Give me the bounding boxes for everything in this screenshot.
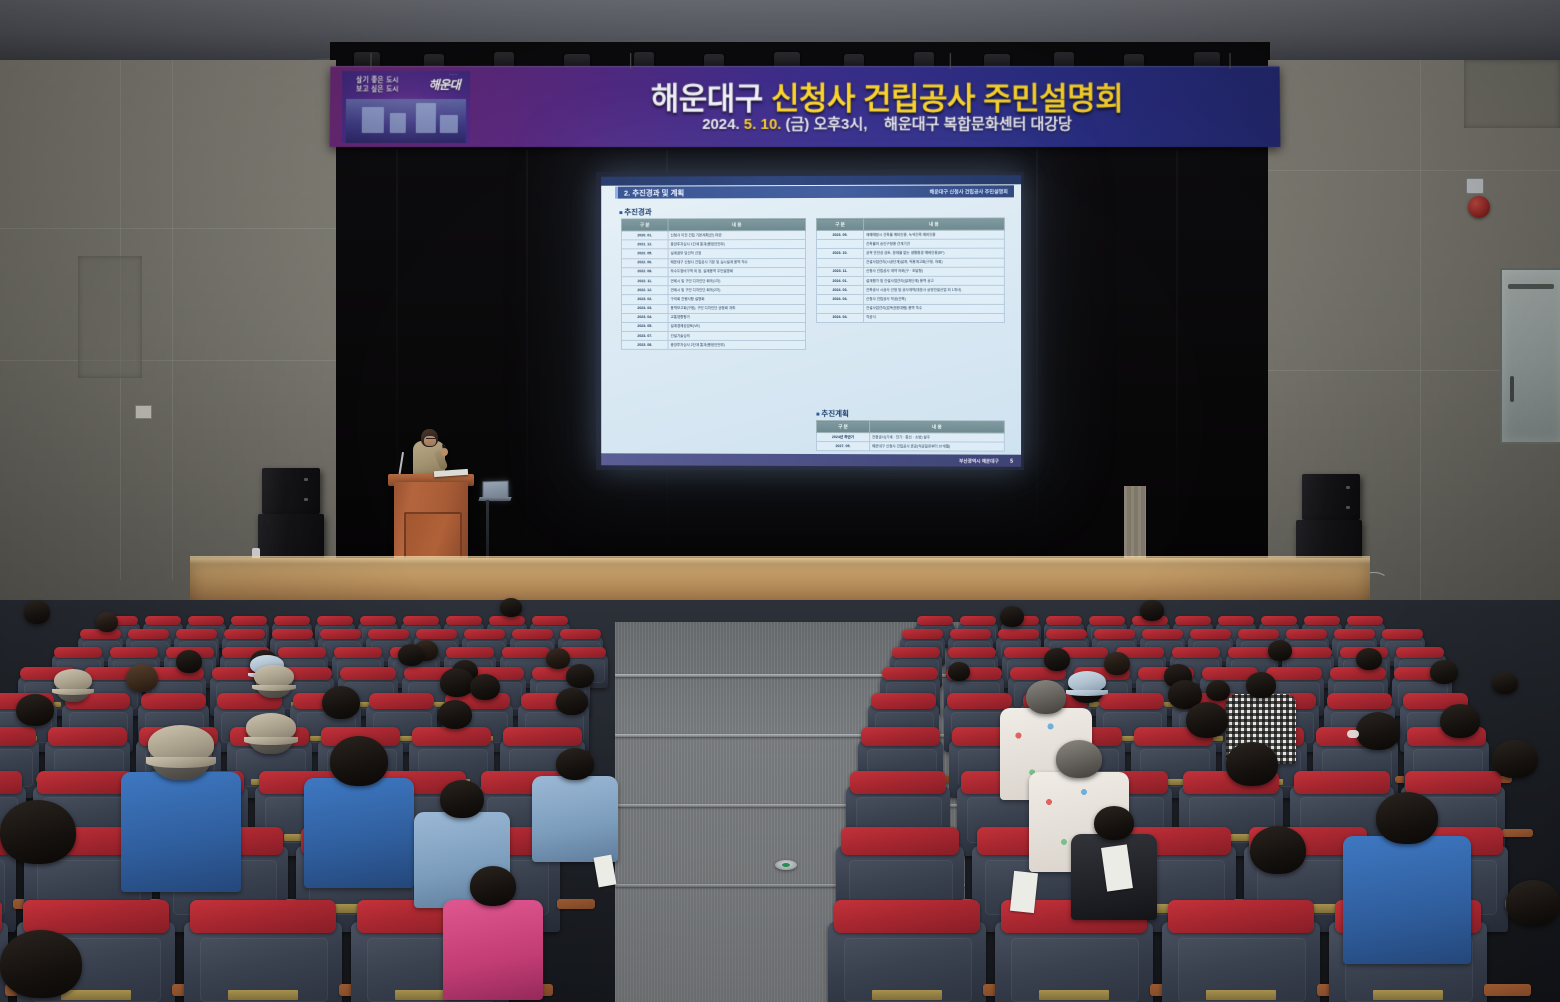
cell-period: 2022. 05. [621,249,668,258]
table-row: 2024. 04.착공식 [816,313,1004,322]
fire-alarm-bell-icon [1468,196,1490,218]
table-row: 2024. 04.신청사 건립공사 착공(건축) [816,295,1004,304]
slide-footer-text: 부산광역시 해운대구 [959,459,999,465]
seat-cushion [368,629,409,639]
cell-period: 2024. 03. [816,286,863,295]
seat-cushion [23,900,168,933]
seat-cushion [960,616,997,625]
seat-cushion [464,629,505,639]
audience-torso [304,778,414,888]
presentation-slide: 2. 추진경과 및 계획 해운대구 신청사 건립공사 주민설명회 추진경과 구 … [601,175,1021,467]
seat-cushion [360,616,397,625]
slide-header-right: 해운대구 신청사 건립공사 주민설명회 [930,188,1008,195]
seat-cushion [489,616,526,625]
seat-cushion [502,647,550,658]
seat-cushion [48,727,126,746]
cell-content: 재해예방시 건축물 예비인증, 녹색건축 예비인증 [864,230,1005,240]
audience-head [176,650,202,673]
audience-head [1356,712,1400,750]
table-header-row: 구 분내 용 [816,421,1004,434]
cell-period: 2024. 01. [816,276,863,285]
seat-cushion [892,647,940,658]
cell-content: 설계평가 및 건설사업관리(설계단계) 용역 공고 [864,276,1005,285]
seat-number-plate [1373,990,1443,1000]
table-header-gubun: 구 분 [816,218,863,230]
seat-cushion [917,616,954,625]
auditorium-seat[interactable] [995,922,1153,1002]
auditorium-seat[interactable] [184,922,342,1002]
cell-content: 해운대구 신청사 건립공사 준공(착공일로부터 37개월) [870,442,1005,452]
seat-cushion [0,900,2,933]
audience-head [470,674,500,700]
seat-armrest [1502,829,1533,837]
audience-head [1492,740,1538,778]
audience-head [1246,672,1276,698]
table-row: 2023. 02.구의회 진행사항 설명회 [621,295,805,304]
audience-head [556,748,594,780]
audience-head [500,598,522,617]
logo-brandmark: 해운대 [428,76,460,93]
table-row: 2022. 11.연제시 및 구민 디자인단 회의(1차) [621,276,805,285]
audience-torso [1343,836,1471,964]
seat-cushion [412,727,490,746]
slide-top-bar [601,175,1021,185]
seat-cushion [1094,629,1135,639]
seat-cushion [110,647,158,658]
laptop-base [478,497,511,501]
cap-brim [146,757,216,767]
cell-period: 2022. 11. [621,277,668,286]
seat-cushion [1190,629,1231,639]
seat-cushion [37,771,133,794]
audience-head [1506,880,1560,926]
acoustic-panel-left [78,256,142,378]
cell-content: 건설사업관리(감독권한대행) 용역 착수 [864,304,1005,313]
cell-content: 중앙투자심사 2단계 통과(행정안전부) [668,341,805,350]
audience-head [1376,792,1438,844]
cell-content: 전충공사(기계 · 전기 · 통신 · 소방) 발주 [870,433,1005,443]
cell-content: 교통영향평가 [668,313,805,322]
table-row: 건설사업관리(감독권한대행) 용역 착수 [816,304,1004,313]
acoustic-panel-right [1464,60,1560,128]
audience-head [322,686,360,719]
seat-armrest [557,899,595,909]
cell-content: 건설기술심의 [668,332,805,341]
audience-head [330,736,388,786]
banner-title-gold: 신청사 건립공사 주민설명회 [771,81,1124,116]
audience-head [470,866,516,906]
table-header-naeyong: 내 용 [864,218,1005,230]
cap-brim [1066,690,1108,696]
cell-period: 2024년 하반기 [816,433,869,442]
seat-cushion [1046,629,1087,639]
seat-cushion [871,693,936,709]
audience-head [24,600,50,624]
cell-content: 설계공모 당선작 선정 [668,249,805,258]
seat-cushion [369,693,434,709]
cap-brim [252,685,296,691]
table-row: 2022. 12.연제시 및 구민 디자인단 회의(2차) [621,286,805,295]
slide-table-progress-cont: 구 분내 용2023. 09.재해예방시 건축물 예비인증, 녹색건축 예비인증… [816,217,1005,322]
cell-period: 2023. 03. [621,304,668,313]
speaker-stack-right-top [1302,474,1360,520]
slide-page-number: 5 [1010,459,1013,465]
logo-slogan-line2: 보고 싶은 도시 [356,86,399,94]
table-row: 2020. 01.신청사 이전 건립 기본계획(안) 마련 [621,231,805,241]
auditorium-seat[interactable] [828,922,986,1002]
audience-head [1356,648,1382,670]
table-row: 건축물의 승인구청용 관계기관 [816,239,1004,249]
cap-brim [52,689,94,695]
seat-cushion [841,827,959,855]
banner-place: 해운대구 복합문화센터 대강당 [884,116,1072,133]
cell-content: 설계경제성검토(VE) [668,322,805,331]
slide-bottom-bar [601,453,1021,466]
seat-cushion [278,647,326,658]
audience-head [1268,640,1292,661]
auditorium-seat[interactable] [1162,922,1320,1002]
side-exit-door[interactable] [1500,268,1560,444]
wall-sign-left [135,405,152,419]
seat-cushion [1330,667,1385,680]
seat-cushion [1304,616,1341,625]
cell-content: 건축공사 시공사 선정 및 공사계약(대표사 삼양건설산업 외 1개사) [864,285,1005,294]
audience-head [546,648,570,669]
seat-number-plate [61,990,131,1000]
table-row: 건설사업관리(시공단계)설계, 적용계고회(구정, 의회) [816,258,1004,267]
seat-cushion [503,727,581,746]
audience-head [1104,652,1130,675]
audience-head [16,694,54,726]
seat-number-plate [228,990,298,1000]
seat-cushion [320,629,361,639]
seat-cushion [560,629,601,639]
table-row: 2023. 09.재해예방시 건축물 예비인증, 녹색건축 예비인증 [816,230,1004,240]
fire-alarm-call-point[interactable] [1466,178,1484,194]
seat-cushion [1046,616,1083,625]
table-header-gubun: 구 분 [816,421,869,433]
seat-cushion [948,647,996,658]
face-mask [1347,730,1359,738]
auditorium-scene: 살기 좋은 도시 보고 싶은 도시 ··· 해운대 해운대구 신청사 건립공사 … [0,0,1560,1002]
cell-content: 연제시 및 구민 디자인단 회의(2차) [668,286,805,295]
seat-cushion [1327,693,1392,709]
audience-head [556,688,588,715]
cell-period [816,258,863,267]
table-header-row: 구 분내 용 [816,218,1004,230]
table-row: 2023. 04.교통영향평가 [621,313,805,322]
cell-content: 공적 안전성 검토, 장애물 없는 생활환경 예비인증(BF) [864,249,1005,258]
cell-period: 2022. 08. [621,267,668,276]
city-photo [346,99,466,143]
table-row: 2023. 07.건설기술심의 [621,332,805,341]
cell-period [816,304,863,313]
audience-head [1094,806,1134,840]
table-row: 2024. 01.설계평가 및 건설사업관리(설계단계) 용역 공고 [816,276,1004,285]
slide-section-1: 추진경과 [619,206,652,217]
seat-cushion [1382,629,1423,639]
seat-cushion [1142,629,1183,639]
seat-cushion [1168,900,1313,933]
audience-head [1430,660,1458,684]
seat-cushion [145,616,182,625]
presenter-glasses [426,438,436,442]
cell-period: 2022. 12. [621,286,668,295]
seat-cushion [1238,629,1279,639]
audience-head [126,664,158,692]
audience-head [1440,704,1480,738]
cell-period [816,240,863,249]
seat-cushion [1334,629,1375,639]
event-banner: 살기 좋은 도시 보고 싶은 도시 ··· 해운대 해운대구 신청사 건립공사 … [330,66,1281,147]
table-header-row: 구 분내 용 [621,219,805,231]
seat-cushion [0,727,36,746]
seat-cushion [834,900,979,933]
seat-cushion [950,629,991,639]
audience-head [948,662,970,681]
seat-cushion [446,647,494,658]
seat-cushion [416,629,457,639]
audience-head [1026,680,1066,714]
seat-cushion [334,647,382,658]
seat-cushion [446,616,483,625]
audience-cap [254,665,294,687]
seat-cushion [1347,616,1384,625]
table-row: 2022. 05.설계공모 당선작 선정 [621,249,805,258]
table-row: 2027. 05.해운대구 신청사 건립공사 준공(착공일로부터 37개월) [816,442,1004,452]
audience-head [0,800,76,864]
audience-head [1140,600,1164,621]
table-header-naeyong: 내 용 [870,421,1005,433]
audience-head [1056,740,1102,778]
cell-content: 구의회 진행사항 설명회 [668,295,805,304]
seat-cushion [998,629,1039,639]
audience-torso [121,772,241,892]
table-row: 2023. 03.용역보고회(구청), 구민 디자인단 공청회 개최 [621,304,805,313]
cell-content: 착공식 [864,313,1005,322]
seat-number-plate [872,990,942,1000]
audience-cap [1068,671,1106,692]
cell-content: 용역보고회(구청), 구민 디자인단 공청회 개최 [668,304,805,313]
table-row: 2023. 10.공적 안전성 검토, 장애물 없는 생활환경 예비인증(BF) [816,249,1004,259]
cell-period: 2023. 11. [816,267,863,276]
cap-brim [244,737,298,745]
cell-period: 2023. 05. [621,322,668,331]
slide-title: 2. 추진경과 및 계획 [624,187,684,198]
seat-cushion [340,667,395,680]
audience-cap [54,669,92,691]
slide-table-plan: 구 분내 용2024년 하반기전충공사(기계 · 전기 · 통신 · 소방) 발… [816,420,1005,452]
banner-title-white: 해운대구 [651,81,763,116]
audience-head [1044,648,1070,671]
slide-table-progress: 구 분내 용2020. 01.신청사 이전 건립 기본계획(안) 마련2021.… [621,218,806,350]
cell-period: 2022. 06. [621,258,668,267]
banner-date-rest: (금) 오후3시, [786,116,868,133]
seat-cushion [1218,616,1255,625]
audience-torso [532,776,618,862]
seat-cushion [190,900,335,933]
presenter-hand [441,448,448,456]
table-row: 2023. 05.설계경제성검토(VE) [621,322,805,331]
audience-head [1186,702,1228,738]
cell-period: 2023. 07. [621,332,668,341]
logo-slogan: 살기 좋은 도시 보고 싶은 도시 [356,77,399,94]
seat-cushion [1294,771,1390,794]
seat-cushion [224,629,265,639]
floor-exit-marker-light [775,860,797,870]
cell-content: 신청사 이전 건립 기본계획(안) 마련 [668,231,805,240]
seat-cushion [1099,693,1164,709]
audience-head [438,700,472,729]
seat-cushion [1266,667,1321,680]
seat-cushion [947,693,1012,709]
table-row: 2022. 08.하수도정비구역 외 등, 설계용역 주민설명회 [621,267,805,276]
cell-content: 연제시 및 구민 디자인단 회의(1차) [668,276,805,285]
seat-cushion [1396,647,1444,658]
table-row: 2023. 08.중앙투자심사 2단계 통과(행정안전부) [621,341,805,350]
logo-slogan-line1: 살기 좋은 도시 [356,77,399,85]
banner-date-plain: 2024. [702,116,740,133]
seat-cushion [274,616,311,625]
seat-cushion [54,647,102,658]
table-header-gubun: 구 분 [621,219,668,231]
cell-period: 2023. 02. [621,295,668,304]
seat-cushion [141,693,206,709]
banner-date-gold: 5. 10. [744,116,782,133]
seat-cushion [532,616,569,625]
audience-head [440,780,484,818]
seat-number-plate [1039,990,1109,1000]
seat-cushion [231,616,268,625]
seat-cushion [176,629,217,639]
cell-period: 2023. 09. [816,230,863,239]
seat-cushion [1172,647,1220,658]
cell-content: 신청사 건립공사 착공(건축) [864,295,1005,304]
audience-head [96,612,118,632]
auditorium-seat[interactable] [0,846,16,932]
cell-period: 2024. 04. [816,313,863,322]
audience-head [566,664,594,688]
table-row: 2023. 11.신청사 건립공사 계약 의뢰(구 · 조달청) [816,267,1004,276]
seat-cushion [861,727,939,746]
cell-content: 건축물의 승인구청용 관계기관 [864,239,1005,248]
audience-torso [443,900,543,1000]
seat-cushion [1286,629,1327,639]
table-row: 2022. 06.해운대구 신청사 건립공사 기본 및 실시설계 용역 착수 [621,258,805,267]
cell-period: 2023. 08. [621,341,668,350]
seat-cushion [128,629,169,639]
seat-cushion [1261,616,1298,625]
cell-content: 중앙투자심사 1단계 통과(행정안전부) [668,240,805,249]
seat-cushion [1175,616,1212,625]
seat-cushion [1405,771,1501,794]
table-row: 2024. 03.건축공사 시공사 선정 및 공사계약(대표사 삼양건설산업 외… [816,285,1004,294]
seat-number-plate [1206,990,1276,1000]
cell-period: 2021. 12. [621,240,668,249]
door-handle[interactable] [1510,376,1514,402]
seat-cushion [188,616,225,625]
cell-period: 2023. 04. [621,313,668,322]
slide-header-bar: 2. 추진경과 및 계획 해운대구 신청사 건립공사 주민설명회 [615,185,1014,198]
table-header-naeyong: 내 용 [668,219,805,231]
seat-cushion [902,629,943,639]
cell-period: 2023. 10. [816,249,863,258]
handout-paper [1010,871,1038,913]
seat-cushion [882,667,937,680]
cell-period: 2027. 05. [816,442,869,451]
slide-section-2: 추진계획 [816,408,849,419]
haeundae-logo-block: 살기 좋은 도시 보고 싶은 도시 ··· 해운대 [342,71,471,143]
cell-content: 해운대구 신청사 건립공사 기본 및 실시설계 용역 착수 [668,258,805,267]
cell-content: 하수도정비구역 외 등, 설계용역 주민설명회 [668,267,805,276]
speaker-stack-left-top [262,468,320,514]
seat-cushion [0,771,22,794]
table-row: 2021. 12.중앙투자심사 1단계 통과(행정안전부) [621,240,805,250]
seat-cushion [512,629,553,639]
audience-head [1206,680,1230,701]
audience-head [398,644,424,666]
projection-screen: 2. 추진경과 및 계획 해운대구 신청사 건립공사 주민설명회 추진경과 구 … [601,175,1021,467]
cell-period: 2020. 01. [621,231,668,240]
seat-cushion [317,616,354,625]
seat-cushion [403,616,440,625]
seat-cushion [1089,616,1126,625]
audience-head [1250,826,1306,874]
audience-head [1226,742,1278,786]
banner-title: 해운대구 신청사 건립공사 주민설명회 [512,73,1262,118]
audience-head [1000,606,1024,627]
cell-content: 신청사 건립공사 계약 의뢰(구 · 조달청) [864,267,1005,276]
audience-head [1492,672,1518,694]
banner-subtitle: 2024. 5. 10. (금) 오후3시, 해운대구 복합문화센터 대강당 [512,113,1262,134]
stage-floor-edge [190,556,1370,564]
cell-content: 건설사업관리(시공단계)설계, 적용계고회(구정, 의회) [864,258,1005,267]
door-push-bar [1508,284,1554,289]
cell-period: 2024. 04. [816,295,863,304]
seat-cushion [272,629,313,639]
seat-cushion [850,771,946,794]
seat-armrest [1484,984,1531,996]
audience-head [440,668,474,697]
audience-head [0,930,82,998]
